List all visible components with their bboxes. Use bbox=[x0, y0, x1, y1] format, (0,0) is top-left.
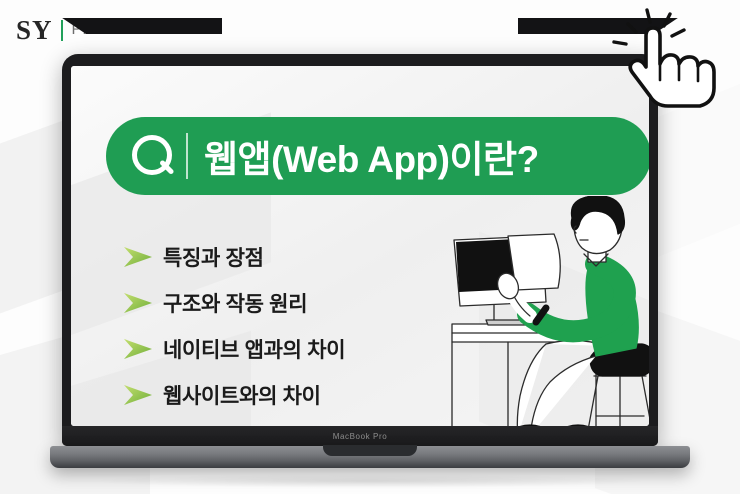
laptop-foot-left bbox=[52, 18, 222, 34]
list-item[interactable]: 구조와 작동 원리 bbox=[123, 280, 345, 326]
arrow-right-icon bbox=[123, 384, 153, 406]
search-icon bbox=[130, 133, 176, 179]
laptop-chin: MacBook Pro bbox=[62, 426, 658, 446]
laptop-shadow bbox=[90, 474, 650, 488]
laptop-display: 웹앱(Web App)이란? 특징과 장점 bbox=[71, 66, 649, 426]
poster-canvas: SY PARTNERS 웹앱(Web Ap bbox=[0, 0, 740, 494]
laptop-base bbox=[50, 446, 690, 468]
topic-list: 특징과 장점 구조와 작동 원리 네이티브 앱과 bbox=[123, 234, 345, 418]
laptop-base-notch bbox=[323, 445, 417, 456]
list-item-label: 네이티브 앱과의 차이 bbox=[163, 334, 345, 364]
search-bar[interactable]: 웹앱(Web App)이란? bbox=[106, 117, 649, 195]
screen-content: 웹앱(Web App)이란? 특징과 장점 bbox=[71, 66, 649, 426]
laptop-lid: 웹앱(Web App)이란? 특징과 장점 bbox=[62, 54, 658, 446]
arrow-right-icon bbox=[123, 246, 153, 268]
list-item-label: 특징과 장점 bbox=[163, 242, 264, 272]
list-item-label: 웹사이트와의 차이 bbox=[163, 380, 321, 410]
list-item[interactable]: 웹사이트와의 차이 bbox=[123, 372, 345, 418]
list-item-label: 구조와 작동 원리 bbox=[163, 288, 307, 318]
search-divider bbox=[186, 133, 188, 179]
clicking-hand-cursor[interactable] bbox=[606, 2, 724, 112]
search-query-text: 웹앱(Web App)이란? bbox=[204, 129, 539, 183]
list-item[interactable]: 네이티브 앱과의 차이 bbox=[123, 326, 345, 372]
arrow-right-icon bbox=[123, 292, 153, 314]
list-item[interactable]: 특징과 장점 bbox=[123, 234, 345, 280]
person-at-desk-illustration bbox=[446, 196, 649, 426]
arrow-right-icon bbox=[123, 338, 153, 360]
device-model-label: MacBook Pro bbox=[333, 432, 388, 441]
